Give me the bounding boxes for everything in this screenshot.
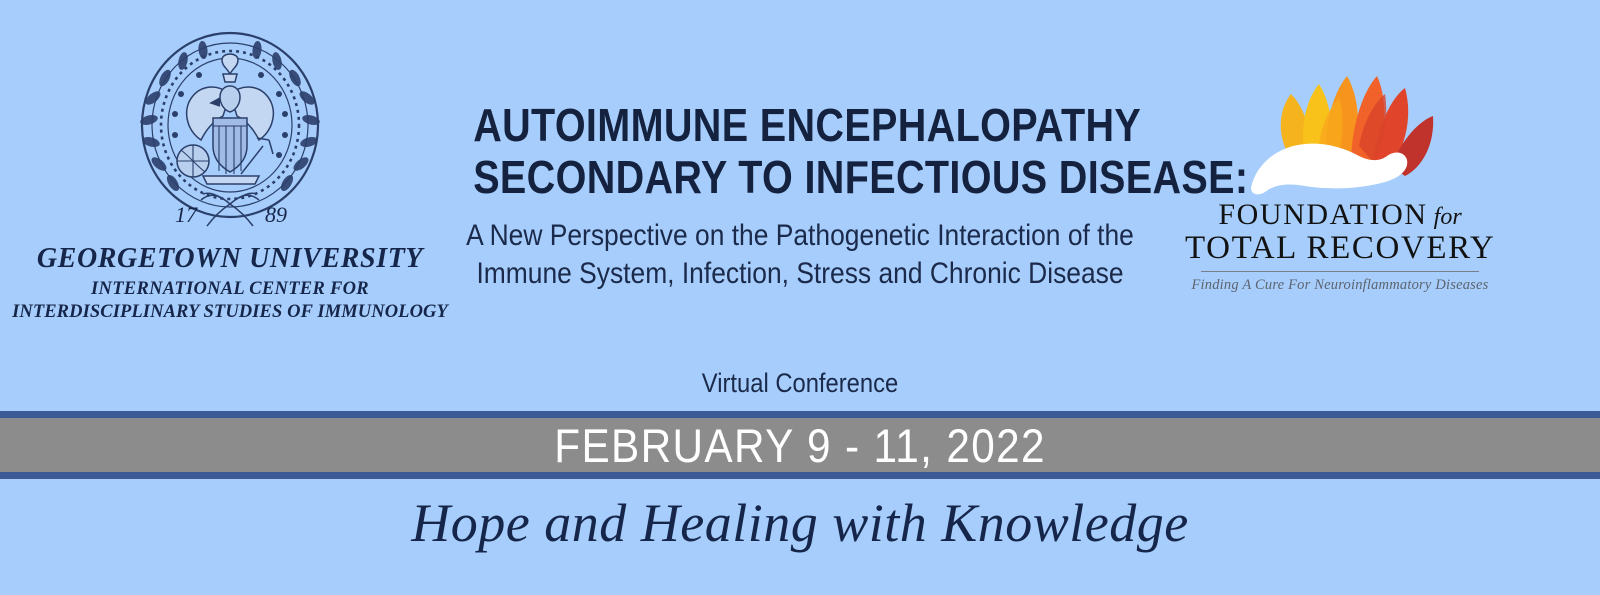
foundation-wordmark: FOUNDATION for TOTAL RECOVERY (1185, 199, 1495, 266)
seal-year-right: 89 (265, 202, 287, 227)
conference-date-bar: FEBRUARY 9 - 11, 2022 (0, 411, 1600, 479)
georgetown-seal-icon: 17 89 (123, 28, 338, 233)
conference-title-line-1: AUTOIMMUNE ENCEPHALOPATHY (473, 100, 1127, 152)
foundation-branding: FOUNDATION for TOTAL RECOVERY Finding A … (1185, 50, 1495, 294)
conference-title-line-2: SECONDARY TO INFECTIOUS DISEASE: (473, 152, 1127, 204)
foundation-name-line-1: FOUNDATION for (1185, 199, 1495, 231)
georgetown-unit-line-2: INTERDISCIPLINARY STUDIES OF IMMUNOLOGY (0, 302, 460, 323)
georgetown-university-name: GEORGETOWN UNIVERSITY (0, 243, 460, 274)
foundation-divider (1201, 271, 1479, 272)
hand-holding-lotus-icon (1233, 50, 1448, 195)
conference-tagline: Hope and Healing with Knowledge (0, 492, 1600, 554)
georgetown-branding: 17 89 GEORGETOWN UNIVERSITY INTERNATIONA… (0, 28, 460, 323)
foundation-name-line-2: TOTAL RECOVERY (1185, 231, 1495, 266)
seal-year-left: 17 (175, 202, 198, 227)
foundation-name-foundation: FOUNDATION (1218, 198, 1427, 231)
conference-subtitle-line-2: Immune System, Infection, Stress and Chr… (466, 255, 1135, 293)
conference-subtitle-line-1: A New Perspective on the Pathogenetic In… (466, 217, 1135, 255)
georgetown-unit-line-1: INTERNATIONAL CENTER FOR (0, 279, 460, 300)
conference-format-label: Virtual Conference (466, 368, 1135, 399)
conference-dates: FEBRUARY 9 - 11, 2022 (554, 418, 1046, 473)
conference-subtitle: A New Perspective on the Pathogenetic In… (420, 217, 1180, 294)
conference-banner: 17 89 GEORGETOWN UNIVERSITY INTERNATIONA… (0, 0, 1600, 595)
foundation-name-for: for (1428, 204, 1462, 230)
conference-title-block: AUTOIMMUNE ENCEPHALOPATHY SECONDARY TO I… (420, 100, 1180, 294)
foundation-tagline: Finding A Cure For Neuroinflammatory Dis… (1185, 277, 1495, 294)
